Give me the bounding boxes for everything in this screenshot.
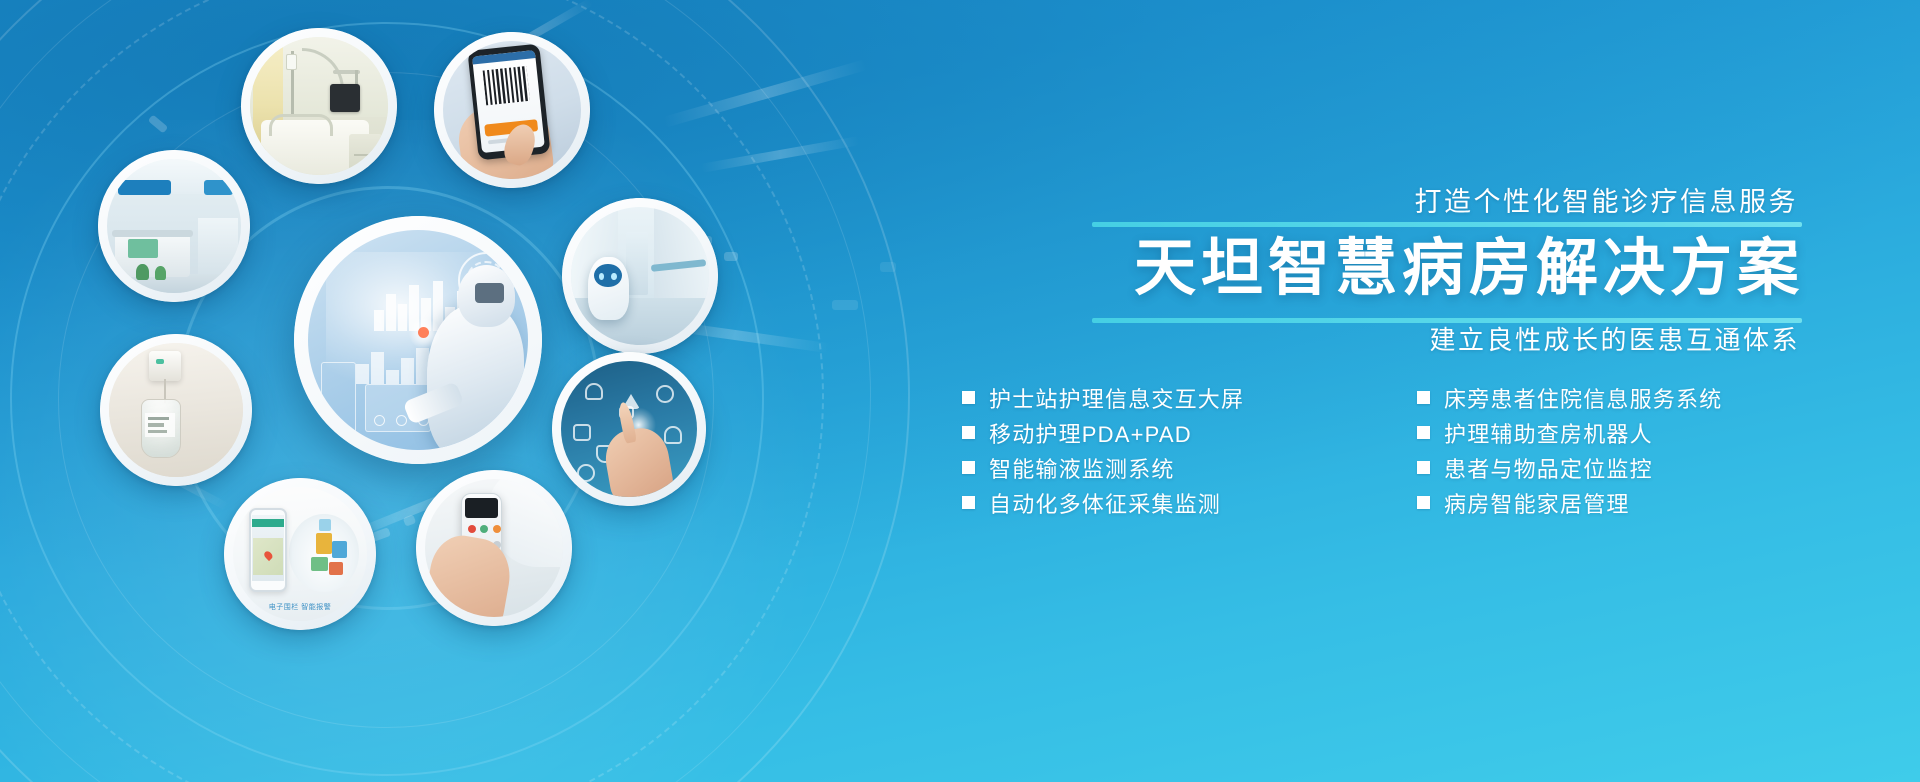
feature-item[interactable]: 护理辅助查房机器人 — [1417, 415, 1860, 450]
feature-item[interactable]: 移动护理PDA+PAD — [962, 415, 1411, 450]
wifi-icon — [656, 385, 674, 403]
promo-banner: 电子围栏 智能报警 打造个性化智能诊疗信息服务 — [0, 0, 1920, 782]
feature-label: 自动化多体征采集监测 — [989, 487, 1221, 519]
bubble-photo — [571, 207, 709, 345]
banner-content: 打造个性化智能诊疗信息服务 天坦智慧病房解决方案 建立良性成长的医患互通体系 护… — [940, 0, 1860, 782]
scene-ai-dashboard — [308, 230, 528, 450]
bubble-photo — [308, 230, 528, 450]
banner-tagline: 建立良性成长的医患互通体系 — [1429, 320, 1800, 357]
deco-chip-4 — [403, 514, 416, 526]
bubble-photo — [443, 41, 581, 179]
bubble-nurse-station-lobby[interactable] — [98, 150, 250, 302]
bubble-photo — [425, 479, 563, 617]
feature-label: 护理辅助查房机器人 — [1444, 417, 1653, 449]
scene-iv-bag — [109, 343, 243, 477]
bubble-smart-home-control[interactable] — [552, 352, 706, 506]
feature-label: 患者与物品定位监控 — [1444, 452, 1653, 484]
bubble-nurse-call-remote[interactable] — [416, 470, 572, 626]
bullet-square-icon — [962, 461, 975, 474]
feature-item[interactable]: 患者与物品定位监控 — [1417, 450, 1860, 485]
deco-chip-7 — [880, 262, 896, 272]
person-icon — [664, 426, 682, 444]
scene-hospital-ward — [250, 37, 388, 175]
bubble-mobile-qr-scan[interactable] — [434, 32, 590, 188]
divider-top — [1092, 222, 1802, 227]
bubble-photo — [561, 361, 697, 497]
bubble-photo: 电子围栏 智能报警 — [233, 487, 367, 621]
deco-chip-6 — [832, 300, 858, 310]
deco-streak-2 — [700, 136, 859, 173]
bubble-e-fence-positioning[interactable]: 电子围栏 智能报警 — [224, 478, 376, 630]
scene-mobile-qr — [443, 41, 581, 179]
bullet-square-icon — [962, 496, 975, 509]
bubble-iv-infusion-bag[interactable] — [100, 334, 252, 486]
scene-service-robot — [571, 207, 709, 345]
bubble-ai-robot-dashboard[interactable] — [294, 216, 542, 464]
bubble-caption: 电子围栏 智能报警 — [246, 602, 353, 612]
feature-list: 护士站护理信息交互大屏 移动护理PDA+PAD 智能输液监测系统 自动化多体征采… — [962, 380, 1860, 520]
scene-smart-home — [561, 361, 697, 497]
feature-column-right: 床旁患者住院信息服务系统 护理辅助查房机器人 患者与物品定位监控 病房智能家居管… — [1411, 380, 1860, 520]
feature-column-left: 护士站护理信息交互大屏 移动护理PDA+PAD 智能输液监测系统 自动化多体征采… — [962, 380, 1411, 520]
bubble-photo — [107, 159, 241, 293]
bullet-square-icon — [1417, 496, 1430, 509]
deco-streak-1 — [663, 59, 868, 127]
bullet-square-icon — [1417, 426, 1430, 439]
feature-item[interactable]: 病房智能家居管理 — [1417, 485, 1860, 520]
feature-item[interactable]: 护士站护理信息交互大屏 — [962, 380, 1411, 415]
feature-label: 病房智能家居管理 — [1444, 487, 1630, 519]
feature-label: 移动护理PDA+PAD — [989, 417, 1192, 449]
bubble-photo — [250, 37, 388, 175]
feature-label: 智能输液监测系统 — [989, 452, 1175, 484]
banner-subtitle: 打造个性化智能诊疗信息服务 — [1415, 180, 1799, 219]
deco-chip-2 — [724, 252, 738, 261]
bubble-photo — [109, 343, 243, 477]
deco-chip-5 — [148, 115, 168, 134]
music-icon — [577, 464, 595, 482]
scene-nurse-station — [107, 159, 241, 293]
scene-nurse-call-remote — [425, 479, 563, 617]
bubble-hospital-ward-bed[interactable] — [241, 28, 397, 184]
feature-label: 床旁患者住院信息服务系统 — [1444, 382, 1722, 414]
bullet-square-icon — [962, 391, 975, 404]
banner-title: 天坦智慧病房解决方案 — [1134, 232, 1804, 305]
scene-e-fence: 电子围栏 智能报警 — [233, 487, 367, 621]
feature-item[interactable]: 床旁患者住院信息服务系统 — [1417, 380, 1860, 415]
lightbulb-icon — [585, 383, 603, 401]
lock-icon — [573, 424, 591, 442]
bubble-service-robot-corridor[interactable] — [562, 198, 718, 354]
bullet-square-icon — [962, 426, 975, 439]
bullet-square-icon — [1417, 461, 1430, 474]
bullet-square-icon — [1417, 391, 1430, 404]
feature-item[interactable]: 自动化多体征采集监测 — [962, 485, 1411, 520]
feature-label: 护士站护理信息交互大屏 — [989, 382, 1244, 414]
feature-item[interactable]: 智能输液监测系统 — [962, 450, 1411, 485]
